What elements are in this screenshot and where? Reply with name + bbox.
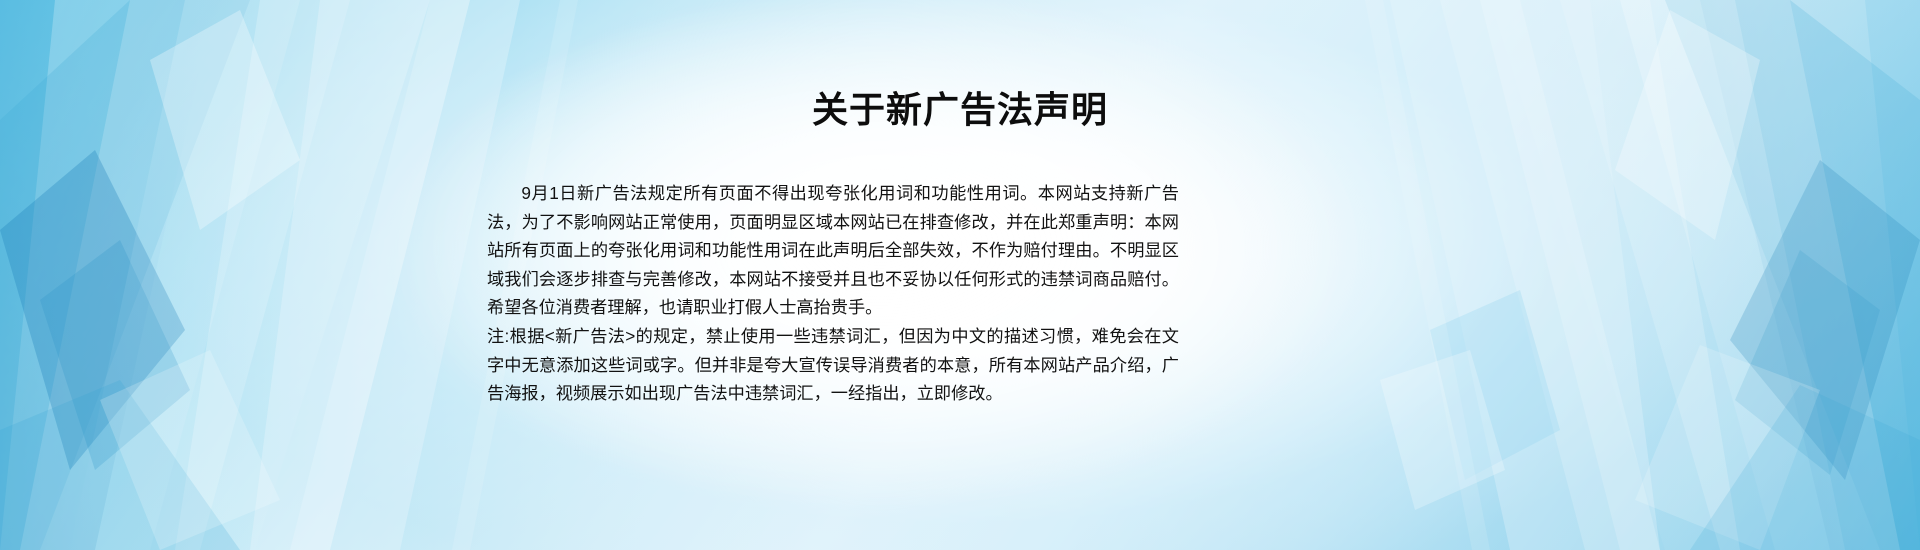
- paragraph-note-declaration: 注:根据<新广告法>的规定，禁止使用一些违禁词汇，但因为中文的描述习惯，难免会在…: [487, 322, 1179, 408]
- page-title: 关于新广告法声明: [360, 88, 1560, 132]
- statement-body: 9月1日新广告法规定所有页面不得出现夸张化用词和功能性用词。本网站支持新广告法，…: [487, 179, 1179, 408]
- paragraph-main-declaration: 9月1日新广告法规定所有页面不得出现夸张化用词和功能性用词。本网站支持新广告法，…: [487, 179, 1179, 322]
- statement-content: 关于新广告法声明 9月1日新广告法规定所有页面不得出现夸张化用词和功能性用词。本…: [0, 0, 1920, 550]
- advertising-law-statement-banner: 关于新广告法声明 9月1日新广告法规定所有页面不得出现夸张化用词和功能性用词。本…: [0, 0, 1920, 550]
